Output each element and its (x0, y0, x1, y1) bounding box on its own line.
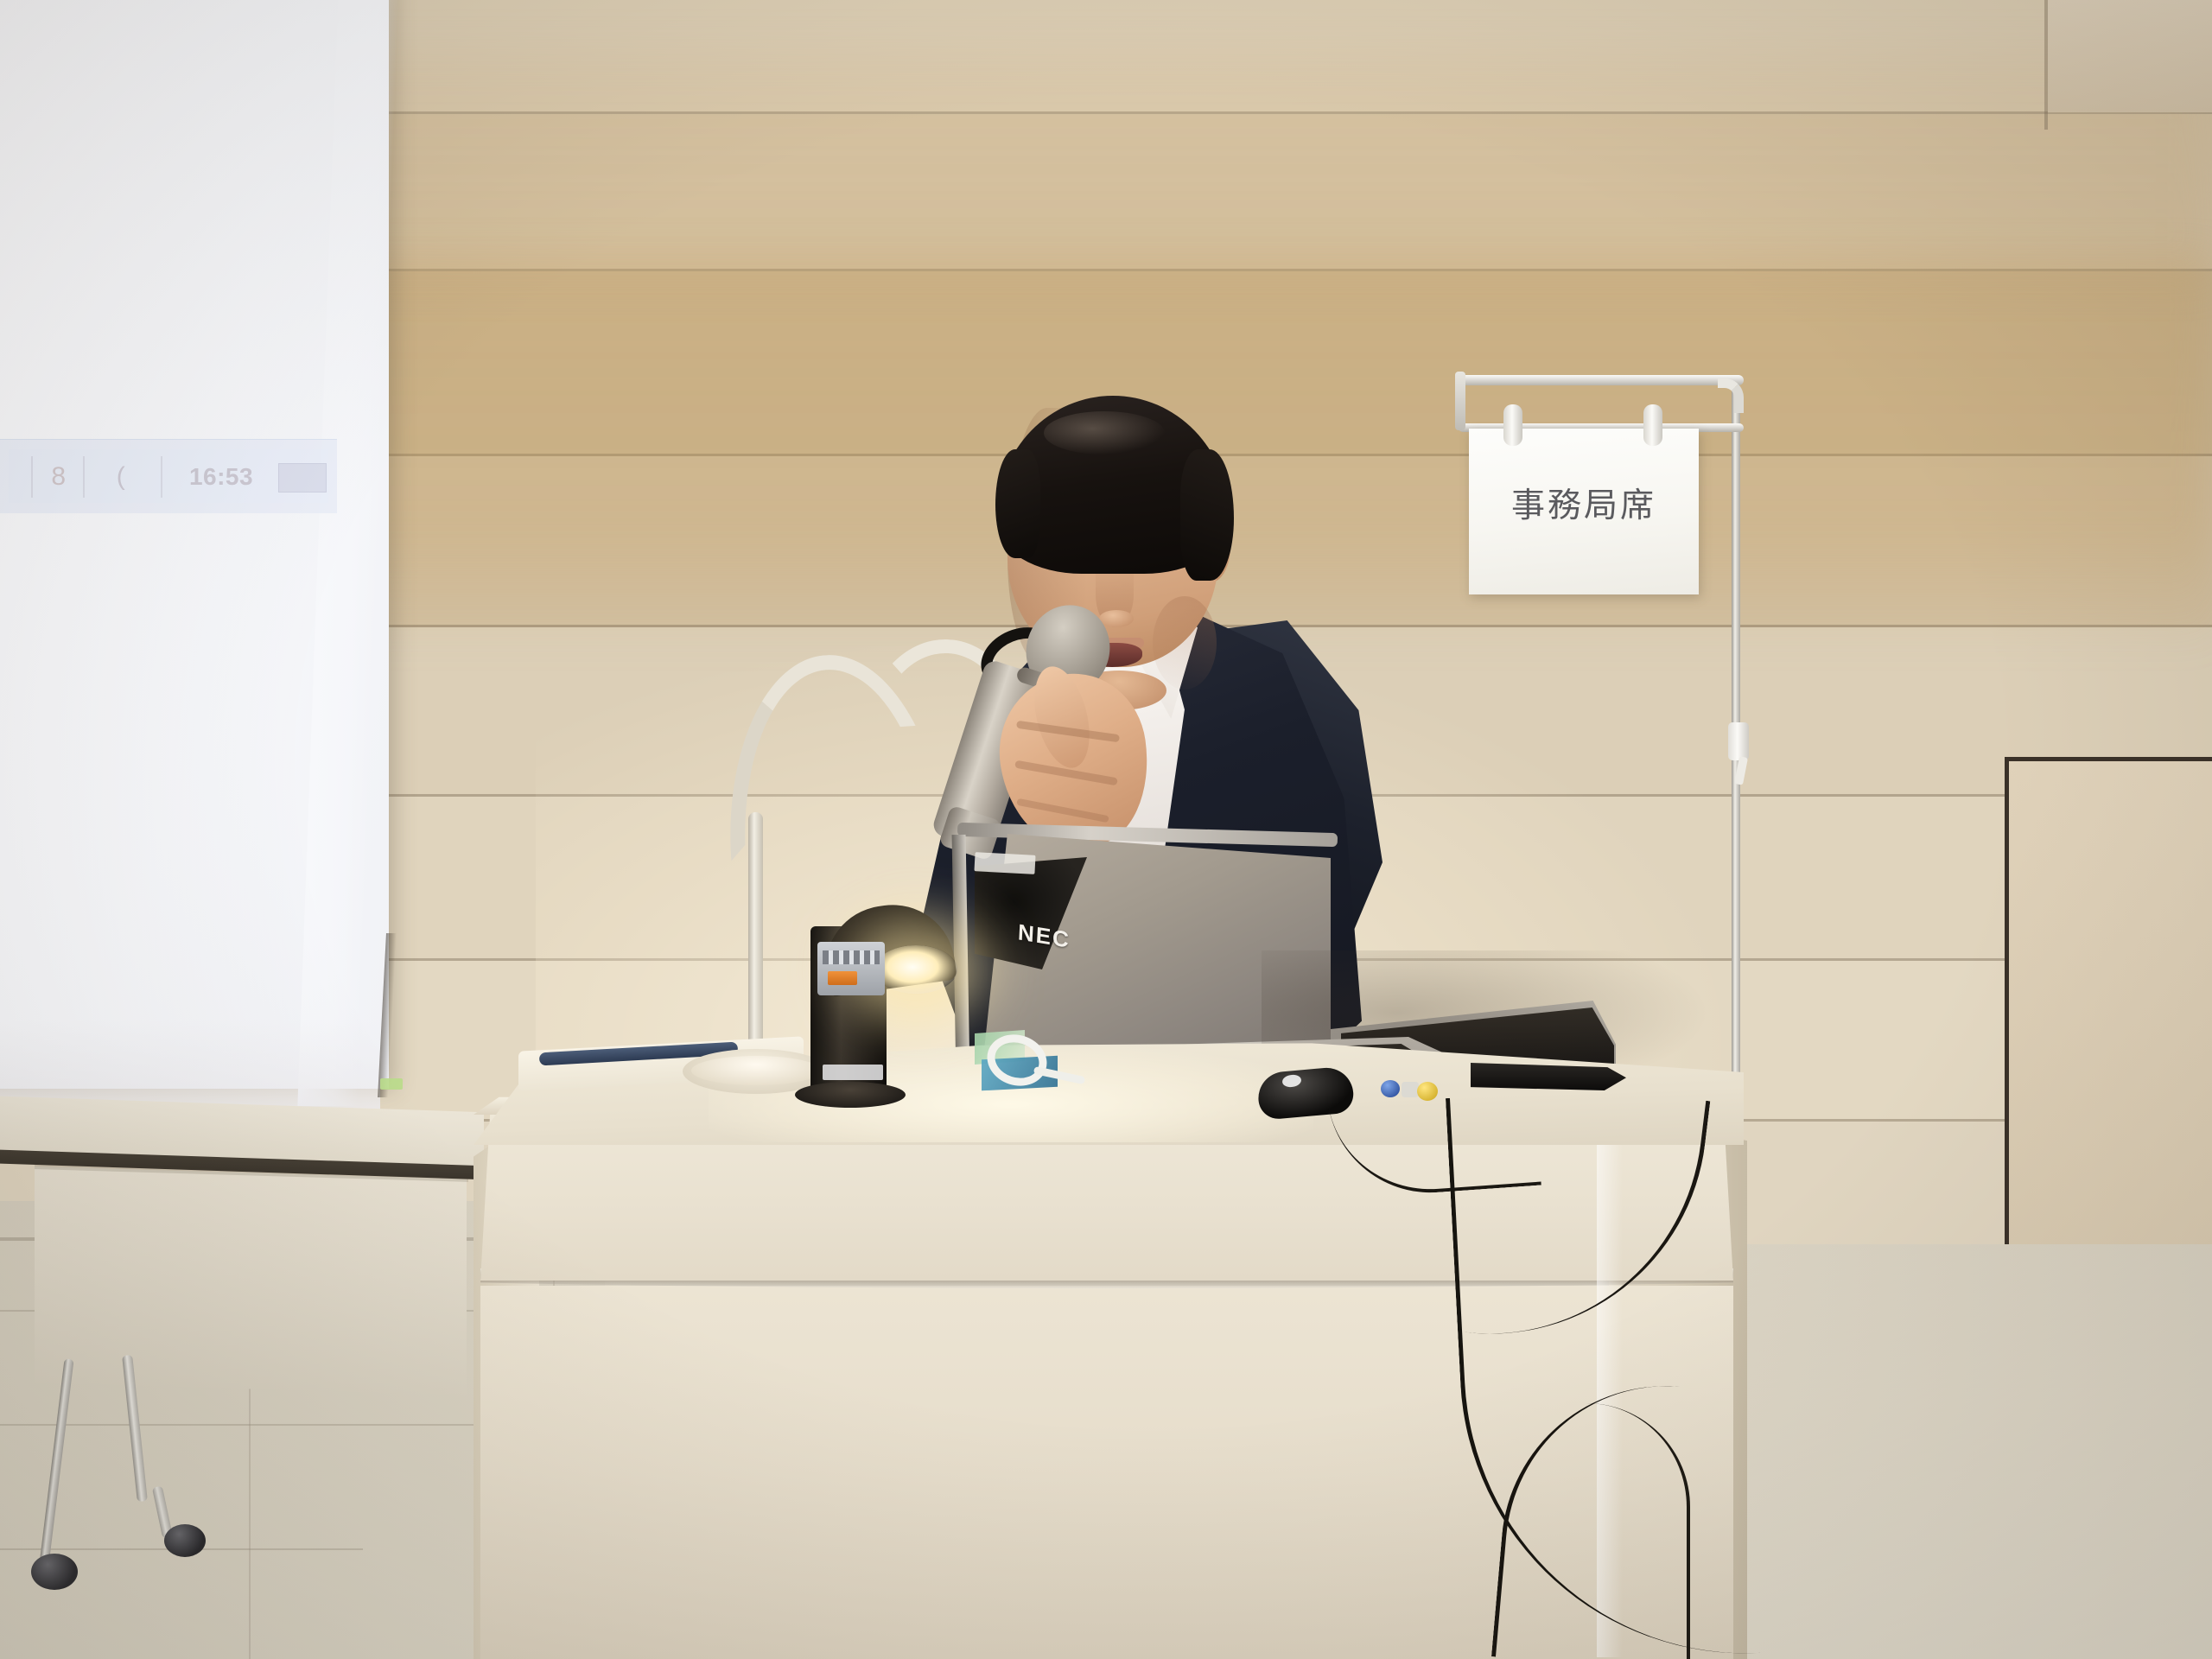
caster-wheel-front (31, 1554, 78, 1590)
folding-table-apron (35, 1166, 467, 1395)
hair-side-right (1180, 449, 1234, 581)
wall-upper-warm-band (285, 52, 2212, 276)
hair-side-left (995, 449, 1040, 558)
wall-amber-band (285, 259, 2212, 648)
cheek-shadow (1153, 596, 1217, 690)
wall-panel-reveal-top (2005, 757, 2212, 761)
caster-wheel-rear (164, 1524, 206, 1557)
desk-lamp-bulb (874, 945, 957, 994)
floor-joint (0, 1424, 484, 1426)
laptop-sticker (974, 852, 1035, 874)
taskbar-clock: 16:53 (173, 460, 270, 494)
wall-corner-block (2048, 0, 2212, 112)
desk-lamp-buttons[interactable] (823, 950, 880, 964)
taskbar-separator (161, 456, 162, 498)
wall-corner-block-edge (2044, 0, 2048, 130)
desk-lamp-label (823, 1065, 883, 1080)
sign-label: 事務局席 (1469, 480, 1699, 525)
desk-lamp-base (795, 1082, 906, 1108)
desk-lamp-power-button[interactable] (828, 971, 857, 985)
photograph-canvas: 8 ( 16:53 事務局席 (0, 0, 2212, 1659)
mic-stand-base-inner (691, 1056, 821, 1085)
sign-stand-top-rail (1459, 375, 1744, 385)
wall-mount-clip (1728, 722, 1749, 760)
person-icon: 8 (41, 460, 76, 494)
green-object-on-table (380, 1078, 403, 1090)
speaker-icon: ( (93, 460, 149, 494)
sign-stand-left-cap (1455, 372, 1465, 430)
sign-hook-right (1643, 404, 1662, 446)
hair-highlight (1044, 411, 1165, 454)
taskbar-separator (31, 456, 33, 498)
sign-hook-left (1503, 404, 1522, 446)
gooseneck-stem (748, 812, 763, 1063)
taskbar-separator (83, 456, 85, 498)
taskbar-tray-icon (278, 463, 327, 493)
